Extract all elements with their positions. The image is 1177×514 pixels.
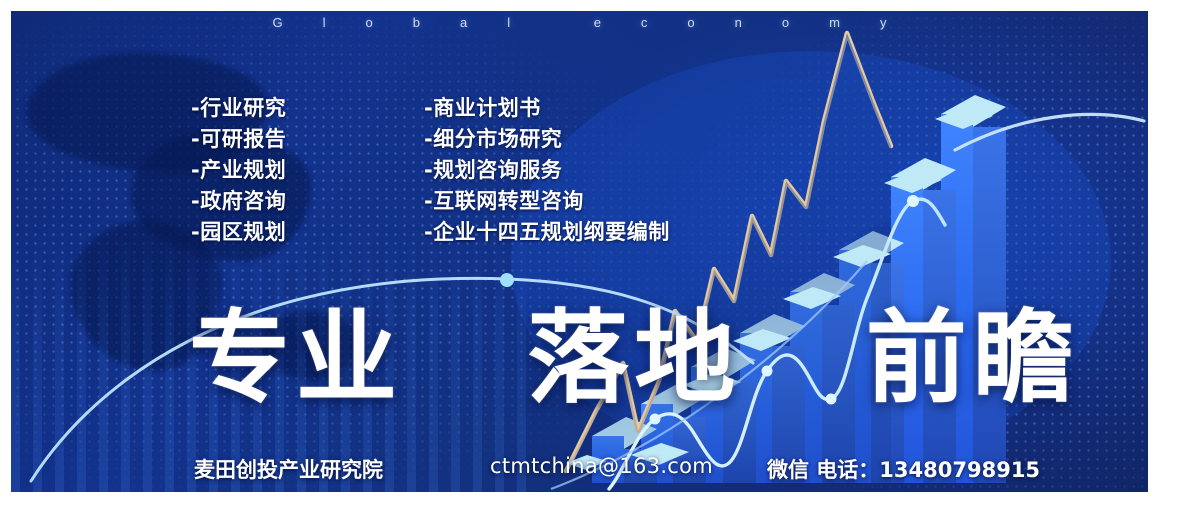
service-item: -可研报告 — [191, 124, 286, 155]
screenshot-root: Global economy -行业研究 -可研报告 -产业规划 -政府咨询 -… — [0, 0, 1177, 514]
service-item: -互联网转型咨询 — [424, 186, 670, 217]
email-address[interactable]: ctmtchina@163.com — [490, 454, 713, 478]
service-list-left: -行业研究 -可研报告 -产业规划 -政府咨询 -园区规划 — [191, 93, 286, 248]
promotional-banner: Global economy -行业研究 -可研报告 -产业规划 -政府咨询 -… — [11, 11, 1148, 492]
service-item: -园区规划 — [191, 217, 286, 248]
phone-number: 微信 电话：13480798915 — [767, 454, 1040, 484]
service-item: -产业规划 — [191, 155, 286, 186]
slogan-word-2: 落地 — [527, 308, 741, 409]
top-label: Global economy — [11, 15, 1148, 30]
service-item: -规划咨询服务 — [424, 155, 670, 186]
contact-bar: 麦田创投产业研究院 ctmtchina@163.com 微信 电话：134807… — [194, 454, 1074, 482]
slogan: 专业 落地 前瞻 — [189, 308, 1019, 409]
economy-chart-graphic — [11, 11, 1148, 492]
service-list-right: -商业计划书 -细分市场研究 -规划咨询服务 -互联网转型咨询 -企业十四五规划… — [424, 93, 670, 248]
organization-name: 麦田创投产业研究院 — [194, 454, 383, 484]
service-item: -企业十四五规划纲要编制 — [424, 217, 670, 248]
slogan-word-3: 前瞻 — [866, 308, 1080, 409]
service-item: -细分市场研究 — [424, 124, 670, 155]
slogan-word-1: 专业 — [189, 308, 403, 409]
service-item: -政府咨询 — [191, 186, 286, 217]
service-item: -行业研究 — [191, 93, 286, 124]
service-item: -商业计划书 — [424, 93, 670, 124]
